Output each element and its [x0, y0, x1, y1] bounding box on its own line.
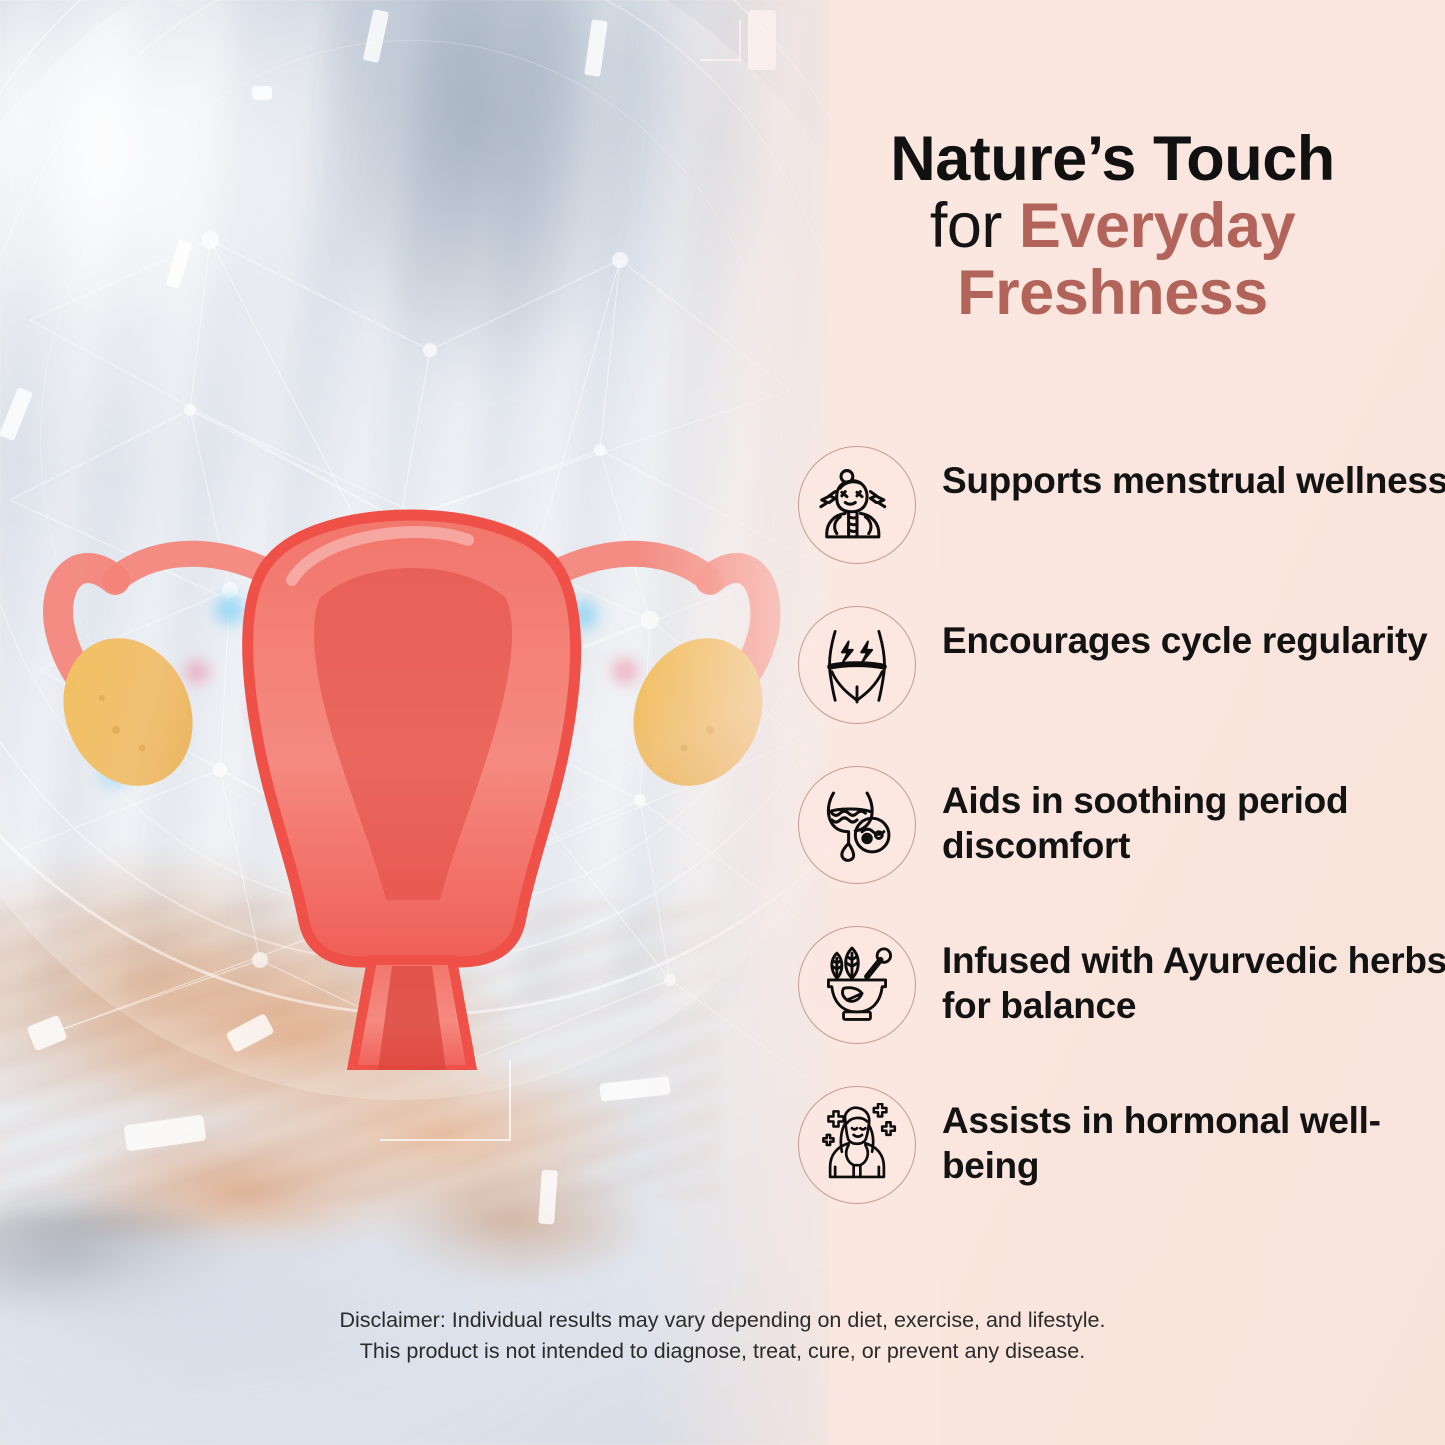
feature-item-period-discomfort: Aids in soothing period discomfort [798, 762, 1445, 902]
feature-list: Supports menstrual wellness Encourages [798, 442, 1445, 1242]
feature-label: Aids in soothing period discomfort [942, 762, 1445, 868]
disclaimer-line-1: Disclaimer: Individual results may vary … [0, 1305, 1445, 1336]
headline-line-2: for Everyday [790, 193, 1435, 260]
headline-line-1: Nature’s Touch [790, 126, 1435, 193]
feature-label: Encourages cycle regularity [942, 602, 1445, 663]
mortar-pestle-herbs-icon [798, 926, 916, 1044]
feature-item-ayurvedic-herbs: Infused with Ayurvedic herbs for balance [798, 922, 1445, 1062]
feature-label: Supports menstrual wellness [942, 442, 1445, 503]
feature-label: Infused with Ayurvedic herbs for balance [942, 922, 1445, 1028]
infographic-poster: Nature’s Touch for Everyday Freshness [0, 0, 1445, 1445]
content-panel: Nature’s Touch for Everyday Freshness [780, 0, 1445, 1445]
feature-item-menstrual-wellness: Supports menstrual wellness [798, 442, 1445, 582]
pelvis-lightning-icon [798, 606, 916, 724]
feature-item-cycle-regularity: Encourages cycle regularity [798, 602, 1445, 742]
uterus-drop-magnifier-icon [798, 766, 916, 884]
disclaimer: Disclaimer: Individual results may vary … [0, 1305, 1445, 1368]
page-title: Nature’s Touch for Everyday Freshness [790, 126, 1435, 326]
headline-line-3: Freshness [790, 260, 1435, 327]
feature-label: Assists in hormonal well-being [942, 1082, 1445, 1188]
disclaimer-line-2: This product is not intended to diagnose… [0, 1336, 1445, 1367]
calm-woman-plus-icon [798, 1086, 916, 1204]
headline-line-2-accent: Everyday [1019, 191, 1295, 261]
headline-line-2-plain: for [930, 191, 1019, 261]
woman-cramps-icon [798, 446, 916, 564]
feature-item-hormonal-wellbeing: Assists in hormonal well-being [798, 1082, 1445, 1222]
